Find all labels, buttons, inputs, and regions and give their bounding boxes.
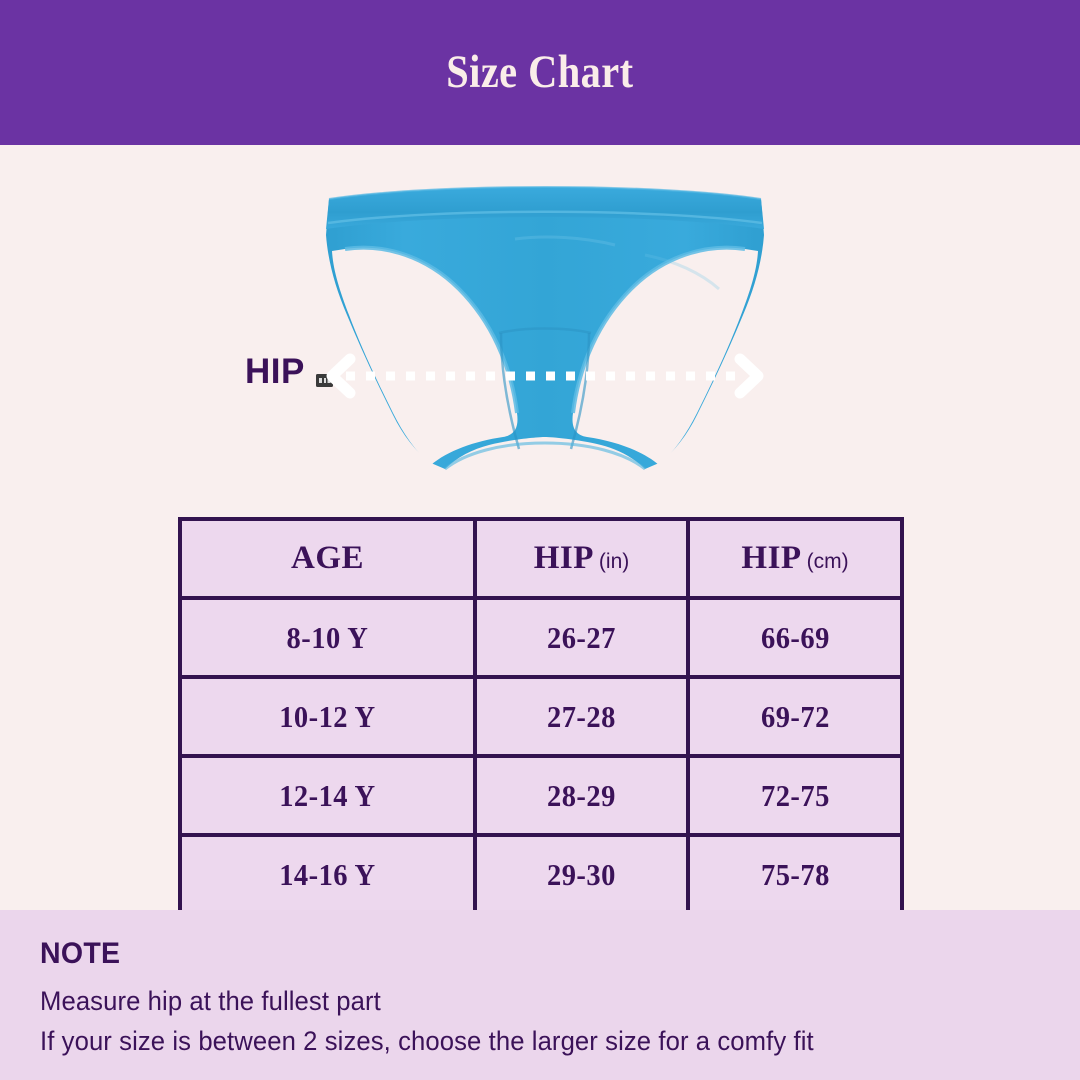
table-header-row: AGE HIP(in) HIP(cm) <box>180 519 902 598</box>
table-row: 14-16 Y 29-30 75-78 <box>180 835 902 914</box>
size-table-container: AGE HIP(in) HIP(cm) 8-10 Y 26-27 66-69 <box>178 517 900 916</box>
column-header-age: AGE <box>180 519 475 598</box>
column-header-hip-cm: HIP(cm) <box>688 519 902 598</box>
cell-age-value: 14-16 Y <box>279 857 375 893</box>
column-header-age-label: AGE <box>291 540 364 576</box>
cell-hip-cm: 72-75 <box>688 756 902 835</box>
column-header-hip-in-label: HIP <box>534 540 594 576</box>
table-row: 12-14 Y 28-29 72-75 <box>180 756 902 835</box>
note-line-1: Measure hip at the fullest part <box>40 981 1000 1022</box>
size-chart-page: Size Chart <box>0 0 1080 1080</box>
cell-age: 14-16 Y <box>180 835 475 914</box>
underwear-brief-icon <box>315 165 775 485</box>
cell-hip-in-value: 28-29 <box>547 778 616 814</box>
cell-hip-in: 26-27 <box>475 598 688 677</box>
size-table: AGE HIP(in) HIP(cm) 8-10 Y 26-27 66-69 <box>178 517 904 916</box>
column-header-hip-cm-unit: (cm) <box>807 550 849 573</box>
column-header-hip-cm-label: HIP <box>741 540 801 576</box>
page-title: Size Chart <box>446 49 633 96</box>
garment-illustration-area: HIP <box>0 145 1080 505</box>
column-header-hip-in: HIP(in) <box>475 519 688 598</box>
cell-hip-in-value: 29-30 <box>547 857 616 893</box>
cell-age: 8-10 Y <box>180 598 475 677</box>
note-line-2: If your size is between 2 sizes, choose … <box>40 1021 1000 1062</box>
table-row: 10-12 Y 27-28 69-72 <box>180 677 902 756</box>
cell-hip-cm-value: 72-75 <box>761 778 830 814</box>
cell-age: 12-14 Y <box>180 756 475 835</box>
cell-hip-in-value: 26-27 <box>547 620 616 656</box>
cell-age: 10-12 Y <box>180 677 475 756</box>
cell-hip-cm: 66-69 <box>688 598 902 677</box>
note-content: NOTE Measure hip at the fullest part If … <box>40 937 1050 1062</box>
cell-hip-in: 28-29 <box>475 756 688 835</box>
table-row: 8-10 Y 26-27 66-69 <box>180 598 902 677</box>
cell-age-value: 8-10 Y <box>287 620 369 656</box>
cell-hip-cm: 75-78 <box>688 835 902 914</box>
column-header-hip-in-unit: (in) <box>599 550 629 573</box>
cell-hip-cm-value: 66-69 <box>761 620 830 656</box>
cell-hip-in: 27-28 <box>475 677 688 756</box>
note-heading: NOTE <box>40 937 1000 972</box>
header-band: Size Chart <box>0 0 1080 145</box>
cell-hip-cm-value: 69-72 <box>761 699 830 735</box>
cell-hip-in: 29-30 <box>475 835 688 914</box>
cell-hip-cm-value: 75-78 <box>761 857 830 893</box>
cell-hip-cm: 69-72 <box>688 677 902 756</box>
cell-hip-in-value: 27-28 <box>547 699 616 735</box>
double-headed-dotted-arrow-icon <box>320 350 770 402</box>
note-band: NOTE Measure hip at the fullest part If … <box>0 910 1080 1080</box>
cell-age-value: 10-12 Y <box>279 699 375 735</box>
hip-measurement-label: HIP <box>245 354 305 389</box>
cell-age-value: 12-14 Y <box>279 778 375 814</box>
